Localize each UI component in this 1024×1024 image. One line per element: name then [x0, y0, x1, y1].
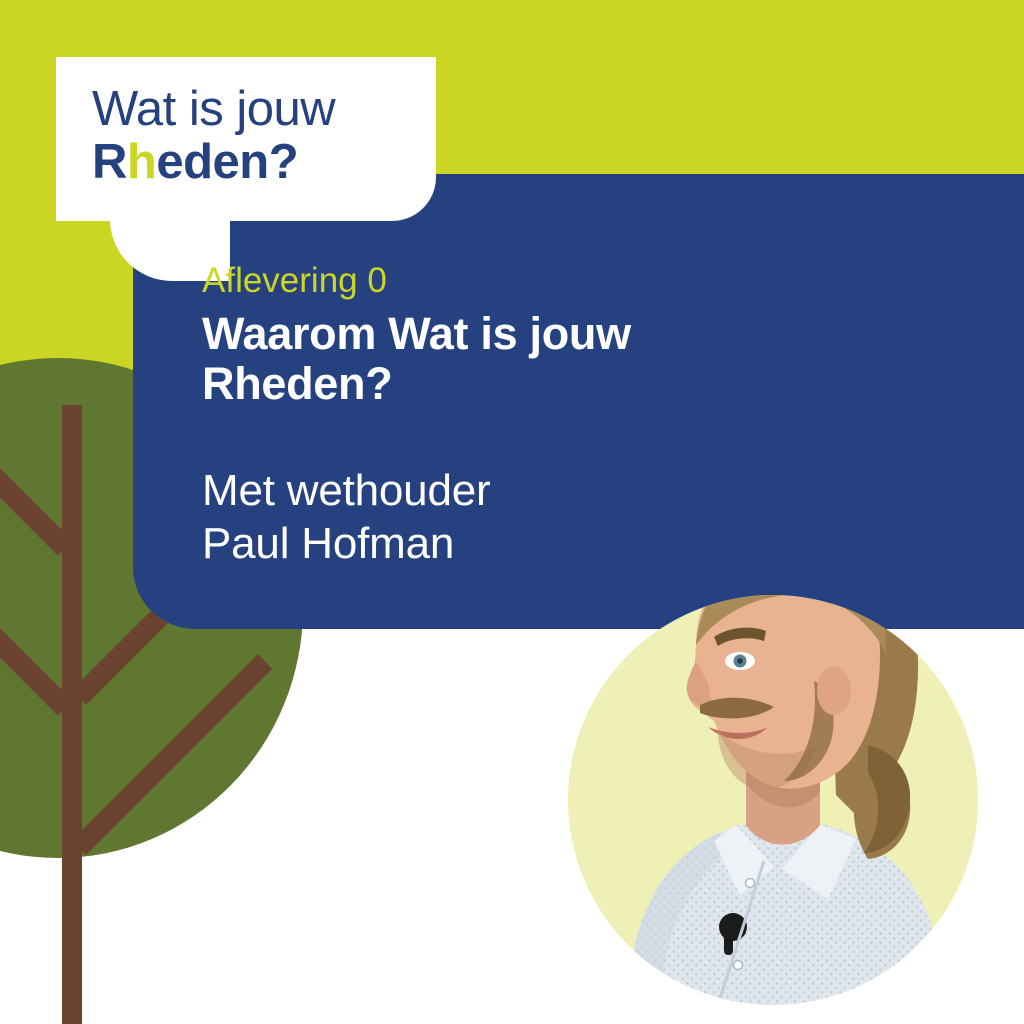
brand-line-1: Wat is jouw	[92, 84, 335, 135]
episode-info: Aflevering 0 Waarom Wat is jouw Rheden? …	[202, 262, 822, 571]
portrait-circle-backdrop	[568, 595, 978, 1005]
episode-title-line-2: Rheden?	[202, 359, 762, 409]
brand-line-2: Rheden?	[92, 137, 335, 188]
guest-info: Met wethouder Paul Hofman	[202, 465, 822, 571]
brand-eden: eden?	[156, 135, 298, 189]
guest-role-line: Met wethouder	[202, 465, 822, 518]
podcast-cover: Wat is jouw Rheden? Aflevering 0 Waarom …	[0, 0, 1024, 1024]
brand-logotype: Wat is jouw Rheden?	[92, 84, 335, 188]
brand-h-accent: h	[127, 135, 156, 189]
brand-r: R	[92, 135, 127, 189]
episode-number-label: Aflevering 0	[202, 262, 822, 301]
episode-title-line-1: Waarom Wat is jouw	[202, 309, 762, 359]
guest-name-line: Paul Hofman	[202, 518, 822, 571]
